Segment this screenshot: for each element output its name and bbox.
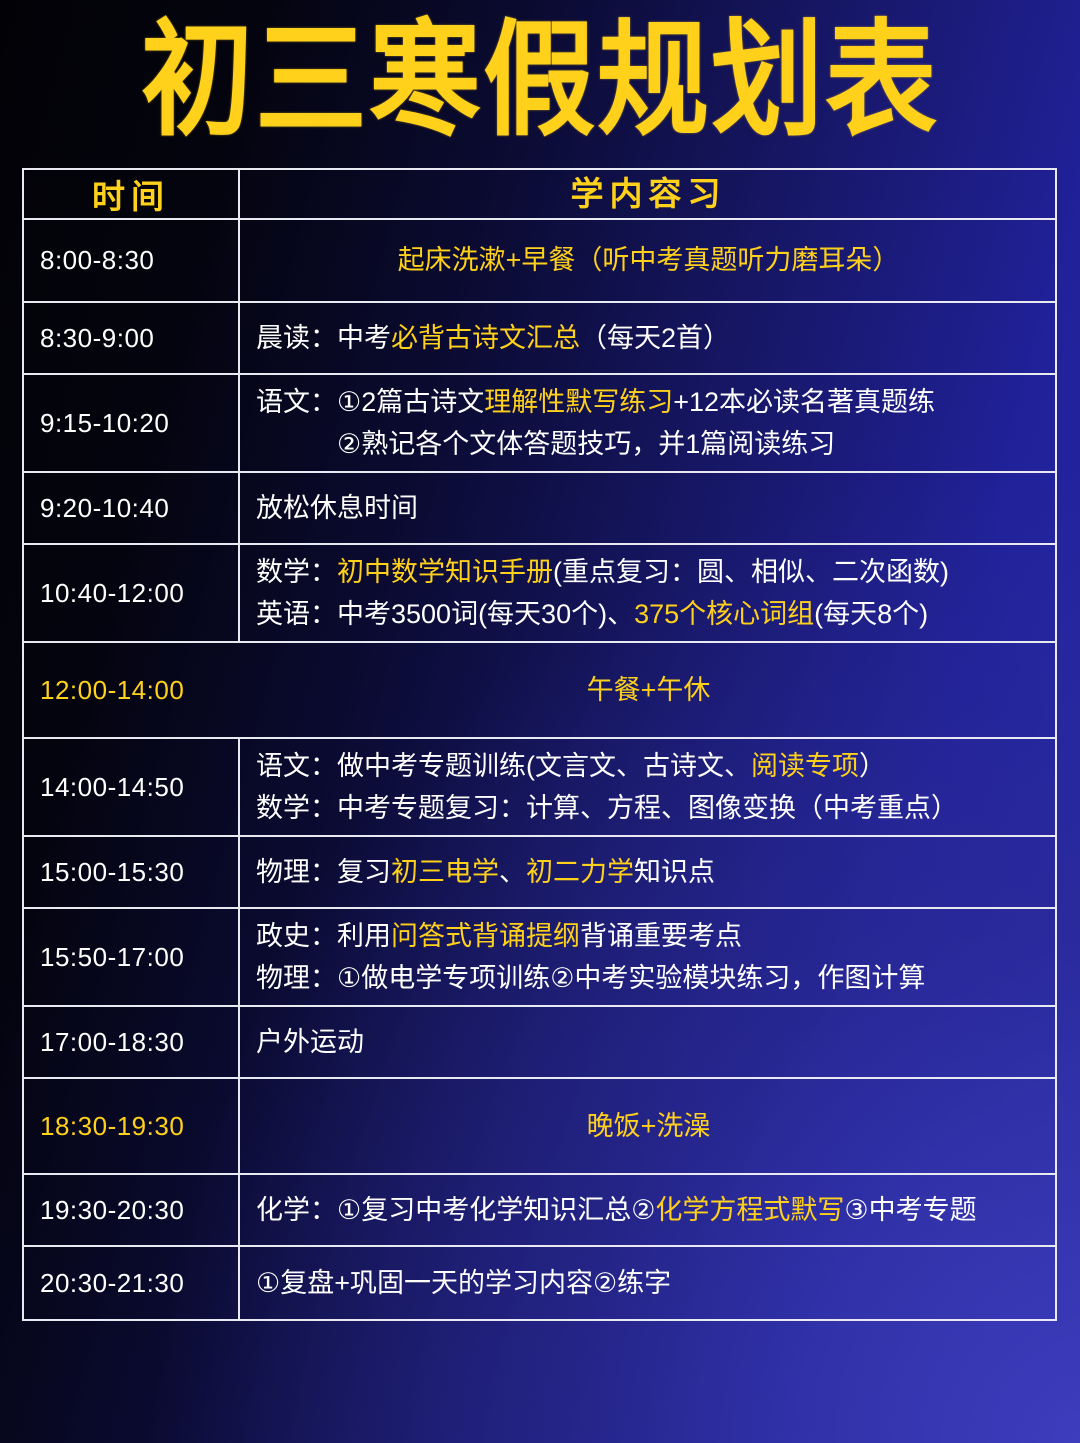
row-time-cell: 20:30-21:30 (24, 1247, 240, 1319)
content-line: 物理：复习初三电学、初二力学知识点 (256, 853, 1041, 891)
content-segment: 数学：中考专题复习：计算、方程、图像变换（中考重点） (256, 793, 958, 823)
content-line: 数学：初中数学知识手册(重点复习：圆、相似、二次函数) (256, 553, 1041, 591)
content-segment: 晚饭+洗澡 (587, 1111, 711, 1141)
content-segment: (每天8个) (814, 599, 928, 629)
table-row: 15:00-15:30物理：复习初三电学、初二力学知识点 (24, 837, 1055, 909)
content-segment: 晨读：中考 (256, 323, 391, 353)
content-segment: 物理：复习 (256, 857, 391, 887)
row-content-cell: 政史：利用问答式背诵提纲背诵重要考点物理：①做电学专项训练②中考实验模块练习，作… (240, 909, 1055, 1005)
content-segment: 必背古诗文汇总 (391, 323, 580, 353)
content-line: 语文：做中考专题训练(文言文、古诗文、阅读专项） (256, 747, 1041, 785)
table-row: 9:20-10:40放松休息时间 (24, 473, 1055, 545)
content-segment: ③中考专题 (844, 1195, 976, 1225)
header-cell-content: 学内容习 (240, 170, 1055, 218)
table-row: 8:00-8:30起床洗漱+早餐（听中考真题听力磨耳朵） (24, 220, 1055, 303)
content-segment: 背诵重要考点 (580, 921, 742, 951)
row-time-cell: 18:30-19:30 (24, 1079, 240, 1173)
row-time-cell: 15:00-15:30 (24, 837, 240, 907)
content-segment: +12本必读名著真题练 (673, 387, 935, 417)
content-line: 语文：①2篇古诗文理解性默写练习+12本必读名著真题练 (256, 383, 1041, 421)
content-segment: ①复盘+巩固一天的学习内容②练字 (256, 1268, 671, 1298)
content-segment: ②熟记各个文体答题技巧，并1篇阅读练习 (256, 429, 835, 459)
content-segment: 初中数学知识手册 (337, 557, 553, 587)
content-line: 物理：①做电学专项训练②中考实验模块练习，作图计算 (256, 959, 1041, 997)
table-row: 9:15-10:20语文：①2篇古诗文理解性默写练习+12本必读名著真题练 ②熟… (24, 375, 1055, 473)
content-segment: 户外运动 (256, 1027, 364, 1057)
content-segment: 起床洗漱+早餐（听中考真题听力磨耳朵） (398, 245, 900, 275)
table-row: 8:30-9:00晨读：中考必背古诗文汇总（每天2首） (24, 303, 1055, 375)
row-content-cell: 午餐+午休 (240, 643, 1055, 737)
content-line: 午餐+午休 (587, 671, 711, 709)
row-time-cell: 9:20-10:40 (24, 473, 240, 543)
row-content-cell: 晚饭+洗澡 (240, 1079, 1055, 1173)
content-line: ②熟记各个文体答题技巧，并1篇阅读练习 (256, 425, 1041, 463)
table-row: 14:00-14:50语文：做中考专题训练(文言文、古诗文、阅读专项）数学：中考… (24, 739, 1055, 837)
table-row: 12:00-14:00午餐+午休 (24, 643, 1055, 739)
content-line: 数学：中考专题复习：计算、方程、图像变换（中考重点） (256, 789, 1041, 827)
row-content-cell: 物理：复习初三电学、初二力学知识点 (240, 837, 1055, 907)
table-row: 17:00-18:30户外运动 (24, 1007, 1055, 1079)
content-segment: 375个核心词组 (634, 599, 814, 629)
row-time-cell: 12:00-14:00 (24, 643, 240, 737)
content-segment: (重点复习：圆、相似、二次函数) (553, 557, 949, 587)
row-content-cell: 晨读：中考必背古诗文汇总（每天2首） (240, 303, 1055, 373)
content-line: 政史：利用问答式背诵提纲背诵重要考点 (256, 917, 1041, 955)
content-segment: 午餐+午休 (587, 675, 711, 705)
content-segment: 语文：做中考专题训练(文言文、古诗文、 (256, 751, 751, 781)
content-segment: 政史：利用 (256, 921, 391, 951)
content-segment: 化学方程式默写 (655, 1195, 844, 1225)
table-header-row: 时间 学内容习 (24, 170, 1055, 220)
schedule-table: 时间 学内容习 8:00-8:30起床洗漱+早餐（听中考真题听力磨耳朵）8:30… (22, 168, 1057, 1321)
row-time-cell: 14:00-14:50 (24, 739, 240, 835)
content-line: 晚饭+洗澡 (587, 1107, 711, 1145)
content-segment: 知识点 (634, 857, 715, 887)
row-time-cell: 10:40-12:00 (24, 545, 240, 641)
content-segment: 问答式背诵提纲 (391, 921, 580, 951)
table-row: 19:30-20:30化学：①复习中考化学知识汇总②化学方程式默写③中考专题 (24, 1175, 1055, 1247)
row-time-cell: 8:30-9:00 (24, 303, 240, 373)
row-content-cell: 语文：①2篇古诗文理解性默写练习+12本必读名著真题练 ②熟记各个文体答题技巧，… (240, 375, 1055, 471)
content-line: 放松休息时间 (256, 489, 1041, 527)
content-segment: （每天2首） (580, 323, 730, 353)
row-time-cell: 19:30-20:30 (24, 1175, 240, 1245)
table-row: 10:40-12:00数学：初中数学知识手册(重点复习：圆、相似、二次函数)英语… (24, 545, 1055, 643)
content-segment: 阅读专项 (751, 751, 859, 781)
content-segment: ） (859, 751, 886, 781)
content-segment: 初二力学 (526, 857, 634, 887)
content-segment: 初三电学 (391, 857, 499, 887)
content-line: 起床洗漱+早餐（听中考真题听力磨耳朵） (398, 241, 900, 279)
content-segment: 理解性默写练习 (484, 387, 673, 417)
content-line: ①复盘+巩固一天的学习内容②练字 (256, 1264, 1041, 1302)
content-line: 化学：①复习中考化学知识汇总②化学方程式默写③中考专题 (256, 1191, 1041, 1229)
table-row: 15:50-17:00政史：利用问答式背诵提纲背诵重要考点物理：①做电学专项训练… (24, 909, 1055, 1007)
content-segment: 数学： (256, 557, 337, 587)
poster-title-wrap: 初三寒假规划表 (0, 18, 1080, 130)
row-content-cell: 语文：做中考专题训练(文言文、古诗文、阅读专项）数学：中考专题复习：计算、方程、… (240, 739, 1055, 835)
row-time-cell: 9:15-10:20 (24, 375, 240, 471)
content-line: 晨读：中考必背古诗文汇总（每天2首） (256, 319, 1041, 357)
row-content-cell: 起床洗漱+早餐（听中考真题听力磨耳朵） (240, 220, 1055, 301)
content-segment: 物理：①做电学专项训练②中考实验模块练习，作图计算 (256, 963, 925, 993)
row-time-cell: 8:00-8:30 (24, 220, 240, 301)
poster-canvas: 初三寒假规划表 时间 学内容习 8:00-8:30起床洗漱+早餐（听中考真题听力… (0, 0, 1080, 1443)
row-content-cell: ①复盘+巩固一天的学习内容②练字 (240, 1247, 1055, 1319)
table-row: 18:30-19:30晚饭+洗澡 (24, 1079, 1055, 1175)
row-time-cell: 15:50-17:00 (24, 909, 240, 1005)
table-row: 20:30-21:30①复盘+巩固一天的学习内容②练字 (24, 1247, 1055, 1319)
row-content-cell: 户外运动 (240, 1007, 1055, 1077)
content-line: 户外运动 (256, 1023, 1041, 1061)
content-segment: 放松休息时间 (256, 493, 418, 523)
content-segment: 英语：中考3500词(每天30个)、 (256, 599, 634, 629)
page-title: 初三寒假规划表 (141, 18, 939, 143)
row-time-cell: 17:00-18:30 (24, 1007, 240, 1077)
row-content-cell: 数学：初中数学知识手册(重点复习：圆、相似、二次函数)英语：中考3500词(每天… (240, 545, 1055, 641)
content-segment: 语文：①2篇古诗文 (256, 387, 484, 417)
content-segment: 、 (499, 857, 526, 887)
header-cell-time: 时间 (24, 170, 240, 218)
content-line: 英语：中考3500词(每天30个)、375个核心词组(每天8个) (256, 595, 1041, 633)
row-content-cell: 化学：①复习中考化学知识汇总②化学方程式默写③中考专题 (240, 1175, 1055, 1245)
row-content-cell: 放松休息时间 (240, 473, 1055, 543)
table-body: 8:00-8:30起床洗漱+早餐（听中考真题听力磨耳朵）8:30-9:00晨读：… (24, 220, 1055, 1319)
content-segment: 化学：①复习中考化学知识汇总② (256, 1195, 655, 1225)
